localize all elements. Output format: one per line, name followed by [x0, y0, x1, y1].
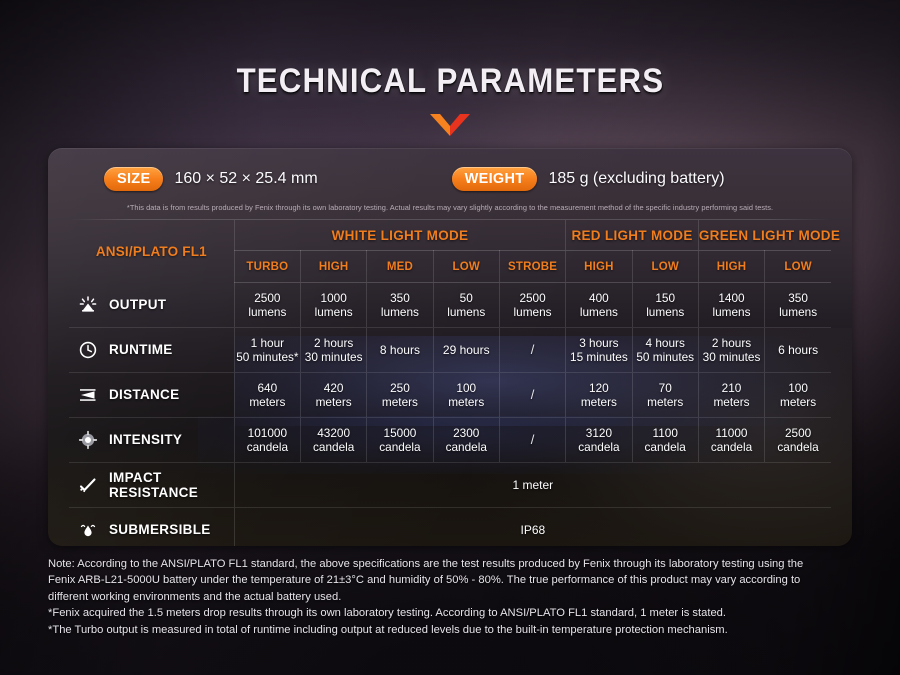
cell-submersible-value: IP68	[234, 508, 831, 547]
row-label-text: OUTPUT	[109, 297, 166, 312]
cell-intensity-green-low: 2500candela	[765, 418, 831, 463]
mode-header-strobe: STROBE	[499, 251, 565, 283]
cell-runtime-white-high: 2 hours30 minutes	[301, 328, 367, 373]
mode-header-red-low: LOW	[632, 251, 698, 283]
size-badge: SIZE	[104, 167, 163, 191]
mode-header-white-med: MED	[367, 251, 433, 283]
cell-intensity-strobe: /	[499, 418, 565, 463]
row-label-text: IMPACTRESISTANCE	[109, 470, 198, 500]
cell-distance-strobe: /	[499, 373, 565, 418]
cell-intensity-green-high: 11000candela	[698, 418, 764, 463]
specs-panel: SIZE 160 × 52 × 25.4 mm WEIGHT 185 g (ex…	[48, 148, 852, 546]
impact-resistance-icon	[77, 474, 99, 496]
size-value: 160 × 52 × 25.4 mm	[174, 170, 317, 188]
cell-runtime-green-high: 2 hours30 minutes	[698, 328, 764, 373]
note-line-3: different working environments and the a…	[48, 589, 858, 605]
mode-header-white-high: HIGH	[301, 251, 367, 283]
mode-header-green-high: HIGH	[698, 251, 764, 283]
mode-header-turbo: TURBO	[234, 251, 300, 283]
row-label-text: SUBMERSIBLE	[109, 522, 211, 537]
table-row: RUNTIME 1 hour50 minutes* 2 hours30 minu…	[69, 328, 831, 373]
cell-output-strobe: 2500lumens	[499, 283, 565, 328]
cell-intensity-red-high: 3120candela	[566, 418, 632, 463]
cell-output-red-low: 150lumens	[632, 283, 698, 328]
mode-header-white-low: LOW	[433, 251, 499, 283]
row-label-submersible: SUBMERSIBLE	[69, 508, 234, 547]
cell-runtime-strobe: /	[499, 328, 565, 373]
row-label-text: RUNTIME	[109, 342, 173, 357]
group-header-red: RED LIGHT MODE	[566, 220, 699, 251]
weight-value: 185 g (excluding battery)	[548, 170, 724, 188]
light-output-icon	[77, 294, 99, 316]
row-label-distance: DISTANCE	[69, 373, 234, 418]
cell-intensity-white-low: 2300candela	[433, 418, 499, 463]
table-row: INTENSITY 101000candela 43200candela 150…	[69, 418, 831, 463]
cell-output-white-low: 50lumens	[433, 283, 499, 328]
group-header-white: WHITE LIGHT MODE	[234, 220, 566, 251]
footer-notes: Note: According to the ANSI/PLATO FL1 st…	[48, 556, 858, 638]
row-label-impact-resistance: IMPACTRESISTANCE	[69, 463, 234, 508]
table-group-header-row: ANSI/PLATO FL1 WHITE LIGHT MODE RED LIGH…	[69, 220, 831, 251]
specifications-table: ANSI/PLATO FL1 WHITE LIGHT MODE RED LIGH…	[69, 220, 831, 546]
row-label-output: OUTPUT	[69, 283, 234, 328]
clock-icon	[77, 339, 99, 361]
cell-runtime-red-high: 3 hours15 minutes	[566, 328, 632, 373]
weight-badge: WEIGHT	[452, 167, 538, 191]
cell-distance-turbo: 640meters	[234, 373, 300, 418]
cell-distance-white-med: 250meters	[367, 373, 433, 418]
group-header-green: GREEN LIGHT MODE	[698, 220, 831, 251]
page-title: TECHNICAL PARAMETERS	[236, 62, 664, 101]
peak-intensity-icon	[77, 429, 99, 451]
note-line-5: *The Turbo output is measured in total o…	[48, 622, 858, 638]
water-drop-icon	[77, 519, 99, 541]
cell-distance-red-low: 70meters	[632, 373, 698, 418]
note-line-4: *Fenix acquired the 1.5 meters drop resu…	[48, 605, 858, 621]
mode-header-green-low: LOW	[765, 251, 831, 283]
row-label-intensity: INTENSITY	[69, 418, 234, 463]
cell-distance-white-low: 100meters	[433, 373, 499, 418]
cell-output-red-high: 400lumens	[566, 283, 632, 328]
cell-intensity-white-med: 15000candela	[367, 418, 433, 463]
cell-output-green-high: 1400lumens	[698, 283, 764, 328]
cell-runtime-green-low: 6 hours	[765, 328, 831, 373]
table-row: DISTANCE 640meters 420meters 250meters 1…	[69, 373, 831, 418]
note-line-1: Note: According to the ANSI/PLATO FL1 st…	[48, 556, 858, 572]
cell-runtime-turbo: 1 hour50 minutes*	[234, 328, 300, 373]
row-label-text: DISTANCE	[109, 387, 179, 402]
cell-intensity-white-high: 43200candela	[301, 418, 367, 463]
cell-runtime-red-low: 4 hours50 minutes	[632, 328, 698, 373]
cell-distance-green-low: 100meters	[765, 373, 831, 418]
cell-distance-green-high: 210meters	[698, 373, 764, 418]
table-row: IMPACTRESISTANCE 1 meter	[69, 463, 831, 508]
row-label-text: INTENSITY	[109, 432, 182, 447]
cell-runtime-white-low: 29 hours	[433, 328, 499, 373]
size-weight-strip: SIZE 160 × 52 × 25.4 mm WEIGHT 185 g (ex…	[48, 148, 852, 196]
cell-distance-red-high: 120meters	[566, 373, 632, 418]
cell-output-green-low: 350lumens	[765, 283, 831, 328]
testing-disclaimer: *This data is from results produced by F…	[48, 203, 852, 212]
cell-intensity-red-low: 1100candela	[632, 418, 698, 463]
chevron-down-icon	[0, 112, 900, 142]
cell-output-white-med: 350lumens	[367, 283, 433, 328]
ansi-standard-label: ANSI/PLATO FL1	[69, 220, 234, 283]
cell-impact-resistance-value: 1 meter	[234, 463, 831, 508]
row-label-runtime: RUNTIME	[69, 328, 234, 373]
cell-distance-white-high: 420meters	[301, 373, 367, 418]
page-title-container: TECHNICAL PARAMETERS	[0, 62, 900, 101]
cell-intensity-turbo: 101000candela	[234, 418, 300, 463]
cell-runtime-white-med: 8 hours	[367, 328, 433, 373]
cell-output-turbo: 2500lumens	[234, 283, 300, 328]
table-row: SUBMERSIBLE IP68	[69, 508, 831, 547]
table-row: OUTPUT 2500lumens 1000lumens 350lumens 5…	[69, 283, 831, 328]
cell-output-white-high: 1000lumens	[301, 283, 367, 328]
note-line-2: Fenix ARB-L21-5000U battery under the te…	[48, 572, 858, 588]
beam-distance-icon	[77, 384, 99, 406]
mode-header-red-high: HIGH	[566, 251, 632, 283]
